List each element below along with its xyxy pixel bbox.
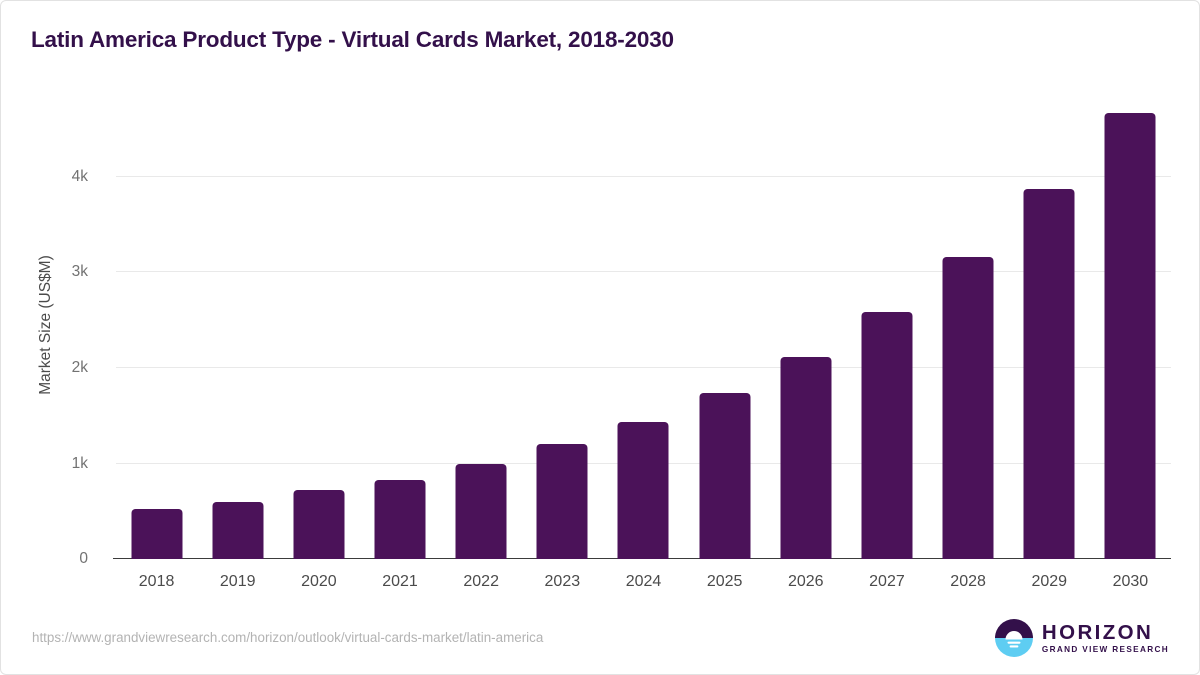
bar[interactable] <box>618 422 669 559</box>
bar-slot: 2026 <box>765 91 846 559</box>
page-title: Latin America Product Type - Virtual Car… <box>31 27 674 53</box>
bar-slot: 2023 <box>522 91 603 559</box>
y-axis-tick-label: 2k <box>72 359 88 377</box>
x-axis-tick-label: 2026 <box>788 573 824 591</box>
bar[interactable] <box>131 509 182 559</box>
bar-slot: 2022 <box>441 91 522 559</box>
bar-slot: 2019 <box>197 91 278 559</box>
bar[interactable] <box>456 464 507 560</box>
y-axis-tick-label: 0 <box>79 550 88 568</box>
bar[interactable] <box>293 490 344 559</box>
bar-series: 2018201920202021202220232024202520262027… <box>116 91 1171 559</box>
bar[interactable] <box>537 444 588 559</box>
bar[interactable] <box>1105 113 1156 559</box>
bar-slot: 2030 <box>1090 91 1171 559</box>
y-axis-tick-label: 1k <box>72 455 88 473</box>
bar-slot: 2025 <box>684 91 765 559</box>
y-axis-title: Market Size (US$M) <box>36 91 56 559</box>
y-axis-tick-label: 4k <box>72 168 88 186</box>
bar[interactable] <box>699 393 750 559</box>
x-axis-tick-label: 2025 <box>707 573 743 591</box>
horizon-logo-icon <box>995 619 1033 657</box>
bar-slot: 2027 <box>846 91 927 559</box>
bar-slot: 2028 <box>928 91 1009 559</box>
bar[interactable] <box>861 312 912 559</box>
x-axis-tick-label: 2022 <box>463 573 499 591</box>
x-axis-tick-label: 2023 <box>545 573 581 591</box>
logo-wordmark: HORIZON <box>1042 622 1169 643</box>
x-axis-tick-label: 2029 <box>1031 573 1067 591</box>
bar[interactable] <box>1024 189 1075 559</box>
bar-slot: 2021 <box>359 91 440 559</box>
bar-slot: 2018 <box>116 91 197 559</box>
bar[interactable] <box>375 480 426 559</box>
plot-area: Market Size (US$M) 01k2k3k4k 20182019202… <box>98 91 1171 559</box>
bar[interactable] <box>212 502 263 559</box>
bar-slot: 2020 <box>278 91 359 559</box>
x-axis-tick-label: 2028 <box>950 573 986 591</box>
chart-canvas: Latin America Product Type - Virtual Car… <box>0 0 1200 675</box>
source-url-text: https://www.grandviewresearch.com/horizo… <box>32 630 543 645</box>
horizon-logo: HORIZON GRAND VIEW RESEARCH <box>995 617 1169 659</box>
x-axis-tick-label: 2020 <box>301 573 337 591</box>
bar[interactable] <box>780 357 831 559</box>
y-axis-tick-label: 3k <box>72 263 88 281</box>
bar-slot: 2029 <box>1009 91 1090 559</box>
x-axis-tick-label: 2019 <box>220 573 256 591</box>
x-axis-tick-label: 2027 <box>869 573 905 591</box>
x-axis-tick-label: 2030 <box>1113 573 1149 591</box>
x-axis-tick-label: 2024 <box>626 573 662 591</box>
horizon-logo-text: HORIZON GRAND VIEW RESEARCH <box>1042 622 1169 655</box>
bar-slot: 2024 <box>603 91 684 559</box>
logo-tagline: GRAND VIEW RESEARCH <box>1042 644 1169 655</box>
x-axis-tick-label: 2021 <box>382 573 418 591</box>
bar[interactable] <box>943 257 994 559</box>
x-axis-tick-label: 2018 <box>139 573 175 591</box>
